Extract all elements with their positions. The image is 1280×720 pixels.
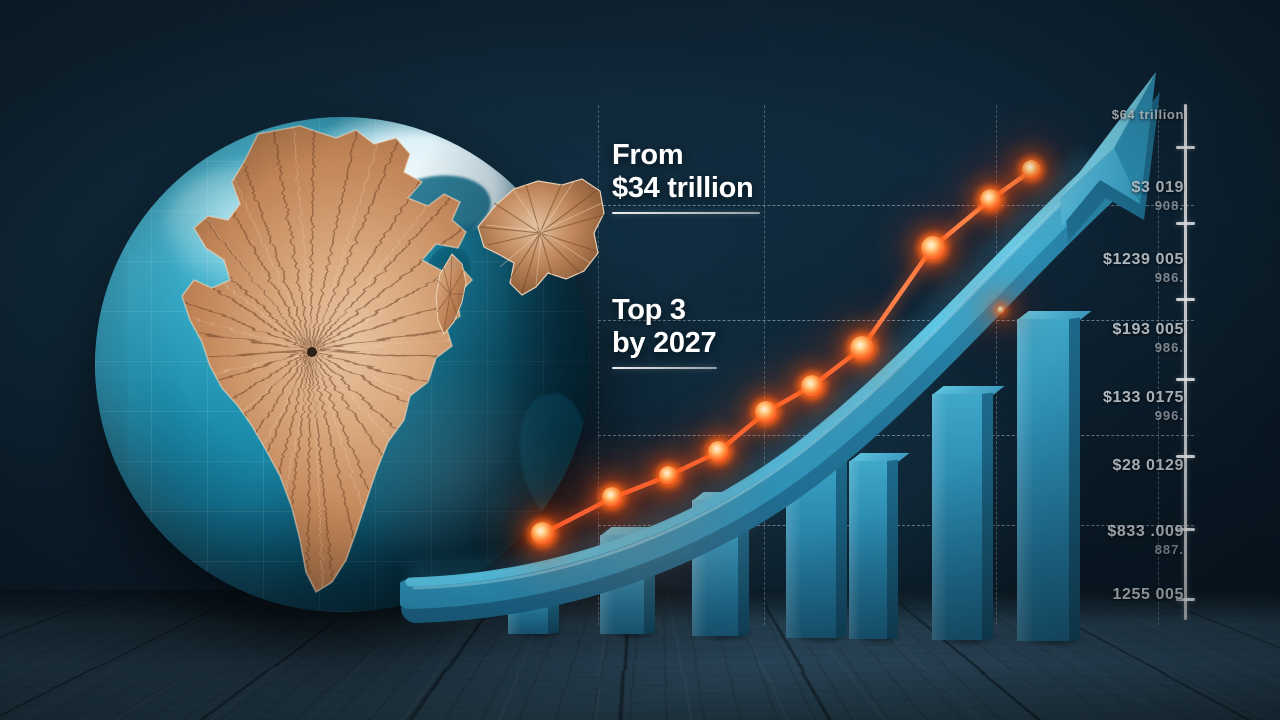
scene-root: From $34 trillion Top 3 by 2027 $64 tril… — [0, 0, 1280, 720]
scene-vignette — [0, 0, 1280, 720]
